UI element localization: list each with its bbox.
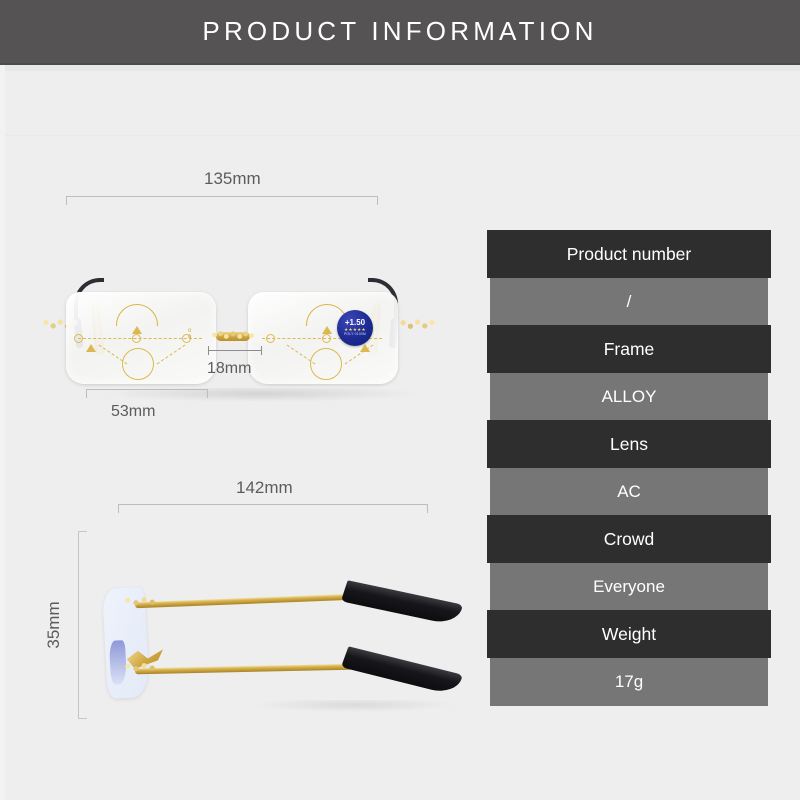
dimension-bracket-lens-width bbox=[86, 389, 208, 398]
spec-cell-text: 17g bbox=[615, 672, 643, 692]
top-band-divider bbox=[0, 65, 800, 71]
lens-marking-triangle-upper-right bbox=[322, 326, 332, 334]
lens-marking-diagonal-a-left bbox=[99, 345, 128, 365]
table-row: Everyone bbox=[490, 563, 768, 611]
temple-arm-lower bbox=[135, 664, 353, 675]
lens-marking-text-left: oo bbox=[188, 328, 192, 340]
side-view-shadow bbox=[255, 700, 455, 712]
lens-marking-diagonal-b-right bbox=[345, 345, 374, 365]
sticker-power-label: +1.50 bbox=[345, 319, 365, 327]
page-title: PRODUCT INFORMATION bbox=[202, 16, 597, 47]
dimension-label-frame-width: 135mm bbox=[204, 169, 261, 189]
table-row: Lens bbox=[487, 420, 771, 468]
dimension-bracket-frame-width bbox=[66, 196, 378, 205]
table-row: Crowd bbox=[487, 515, 771, 563]
temple-tip-lower bbox=[341, 646, 463, 695]
lens-marking-triangle-lower-left bbox=[86, 344, 96, 352]
dimension-label-lens-width: 53mm bbox=[111, 403, 155, 421]
lens-marking-dot-center-right bbox=[322, 334, 331, 343]
dimension-label-temple-length: 142mm bbox=[236, 478, 293, 498]
lens-left: oo bbox=[66, 292, 216, 384]
spec-cell-text: Crowd bbox=[604, 529, 655, 550]
temple-arm-upper bbox=[135, 594, 353, 608]
spec-cell-text: Weight bbox=[602, 624, 656, 645]
spec-cell-text: / bbox=[627, 292, 632, 312]
lens-power-sticker: +1.50 ★★★★★ POLY 0100M bbox=[337, 310, 373, 346]
lens-marking-dot-inner-right bbox=[266, 334, 275, 343]
page-header: PRODUCT INFORMATION bbox=[0, 0, 800, 63]
subtle-band-divider bbox=[0, 135, 800, 136]
lens-marking-dot-center-left bbox=[132, 334, 141, 343]
lens-marking-diagonal-a-right bbox=[287, 345, 316, 365]
dimension-label-lens-height: 35mm bbox=[44, 595, 64, 655]
bridge-jewels bbox=[212, 328, 254, 342]
temple-tip-upper bbox=[341, 580, 463, 626]
lens-marking-triangle-upper-left bbox=[132, 326, 142, 334]
sticker-subtext: POLY 0100M bbox=[344, 333, 366, 336]
spec-cell-text: Product number bbox=[567, 244, 692, 265]
dimension-tick-bridge-right bbox=[261, 346, 262, 355]
side-hinge-jewels-upper bbox=[123, 594, 157, 608]
table-row: 17g bbox=[490, 658, 768, 706]
hinge-jewels-right bbox=[396, 316, 436, 332]
lens-marking-dot-outer-left bbox=[74, 334, 83, 343]
side-hinge-jewels-lower bbox=[123, 660, 157, 674]
table-row: / bbox=[490, 278, 768, 326]
dimension-bracket-temple-length bbox=[118, 504, 428, 513]
table-row: ALLOY bbox=[490, 373, 768, 421]
table-row: Weight bbox=[487, 610, 771, 658]
table-row: AC bbox=[490, 468, 768, 516]
lens-right bbox=[248, 292, 398, 384]
dimension-tick-bridge-left bbox=[208, 346, 209, 355]
spec-cell-text: ALLOY bbox=[602, 387, 657, 407]
dimension-label-bridge-width: 18mm bbox=[207, 360, 251, 378]
spec-cell-text: Everyone bbox=[593, 577, 665, 597]
left-edge-rail bbox=[0, 65, 5, 800]
lens-marking-arc-left bbox=[116, 304, 158, 326]
product-image-side-view bbox=[105, 580, 445, 715]
specification-table: Product number / Frame ALLOY Lens AC Cro… bbox=[487, 230, 771, 702]
dimension-bracket-lens-height bbox=[78, 531, 87, 719]
spec-cell-text: AC bbox=[617, 482, 641, 502]
lens-marking-diagonal-b-left bbox=[157, 345, 186, 365]
table-row: Product number bbox=[487, 230, 771, 278]
spec-cell-text: Frame bbox=[604, 339, 655, 360]
spec-cell-text: Lens bbox=[610, 434, 648, 455]
table-row: Frame bbox=[487, 325, 771, 373]
dimension-line-bridge bbox=[208, 350, 262, 351]
